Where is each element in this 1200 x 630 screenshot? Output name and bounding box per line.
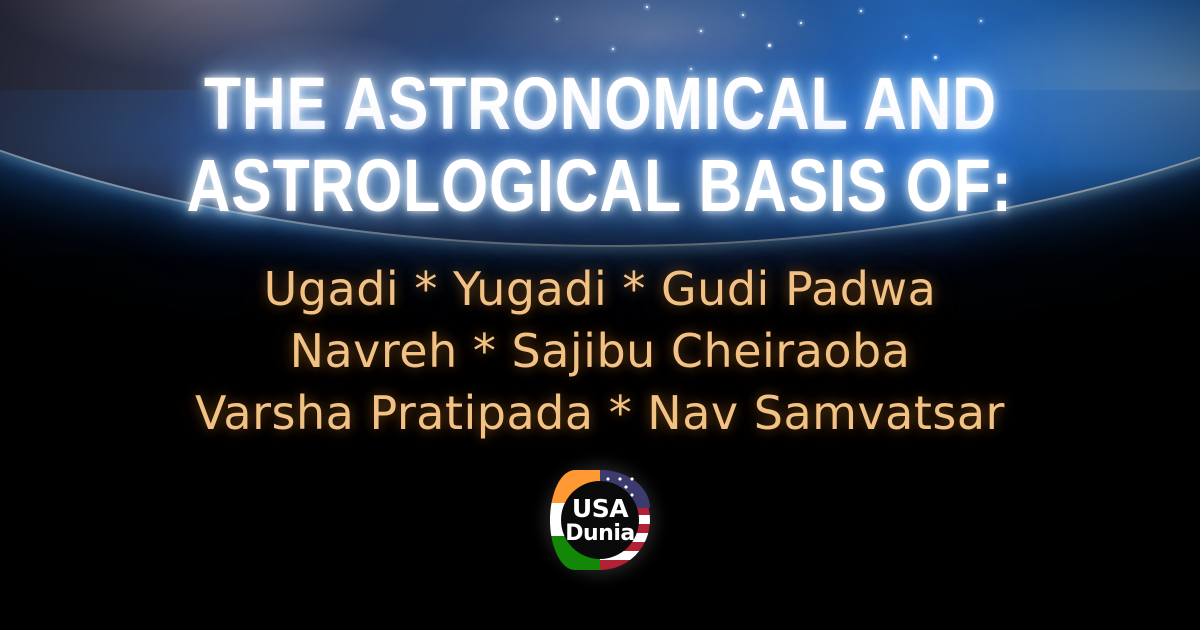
banner-content: THE ASTRONOMICAL AND ASTROLOGICAL BASIS … — [0, 0, 1200, 630]
subtitle-line-3: Varsha Pratipada * Nav Samvatsar — [195, 382, 1005, 444]
subtitle-line-1: Ugadi * Yugadi * Gudi Padwa — [264, 258, 937, 320]
usa-dunia-logo[interactable]: USA Dunia — [550, 470, 650, 570]
logo-center-disc: USA Dunia — [561, 481, 639, 559]
subtitle-line-2: Navreh * Sajibu Cheiraoba — [290, 320, 911, 382]
logo-text-usa: USA — [572, 496, 628, 521]
headline-line-1: THE ASTRONOMICAL AND — [204, 64, 997, 144]
logo-text-dunia: Dunia — [565, 523, 634, 545]
headline-line-2: ASTROLOGICAL BASIS OF: — [187, 146, 1013, 226]
banner-canvas: THE ASTRONOMICAL AND ASTROLOGICAL BASIS … — [0, 0, 1200, 630]
